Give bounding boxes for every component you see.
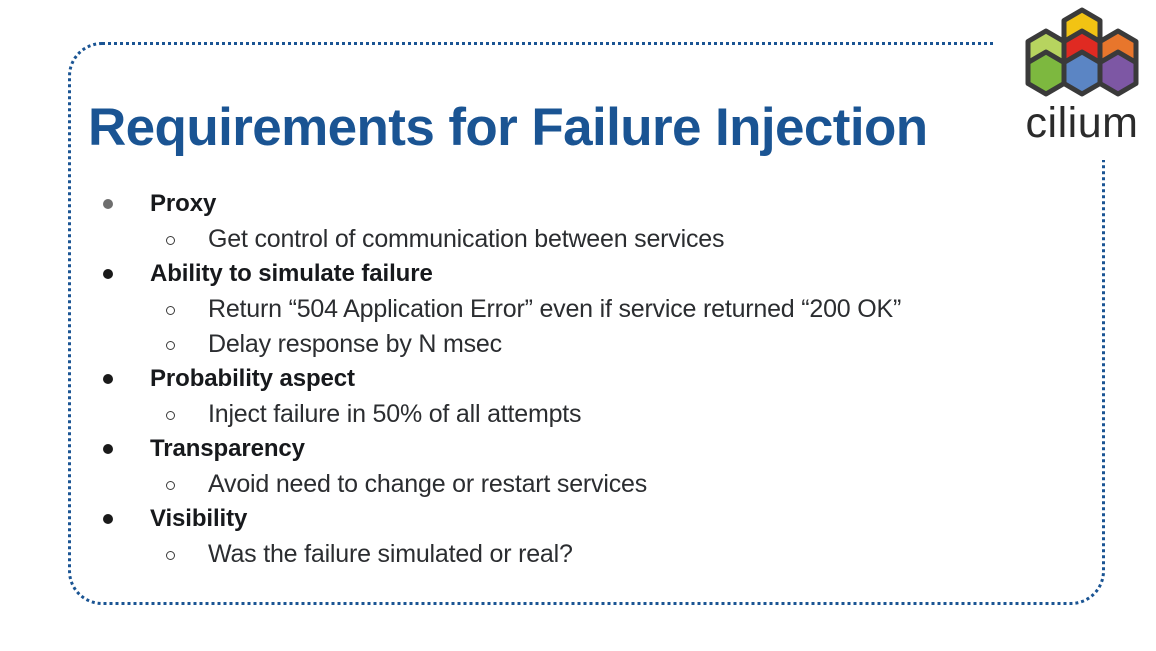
- list-item: Visibility: [96, 505, 1096, 540]
- bullet-marker-hollow: [166, 551, 175, 560]
- list-item: Get control of communication between ser…: [96, 225, 1096, 260]
- bullet-marker-hollow: [166, 341, 175, 350]
- list-item-label: Get control of communication between ser…: [208, 225, 724, 254]
- list-item: Transparency: [96, 435, 1096, 470]
- bullet-marker-filled: [103, 444, 113, 454]
- page-title: Requirements for Failure Injection: [88, 98, 928, 159]
- bullet-marker-filled: [103, 199, 113, 209]
- list-item: Probability aspect: [96, 365, 1096, 400]
- list-item-label: Transparency: [150, 435, 305, 463]
- list-item: Delay response by N msec: [96, 330, 1096, 365]
- cilium-logo: cilium: [1012, 6, 1152, 146]
- list-item-label: Avoid need to change or restart services: [208, 470, 647, 499]
- list-item-label: Delay response by N msec: [208, 330, 502, 359]
- bullet-marker-hollow: [166, 236, 175, 245]
- bullet-marker-filled: [103, 514, 113, 524]
- list-item-label: Visibility: [150, 505, 247, 533]
- hexagon-bottom: [1064, 52, 1100, 94]
- cilium-hexagon-cluster: [1012, 6, 1152, 106]
- list-item: Was the failure simulated or real?: [96, 540, 1096, 575]
- list-item-label: Ability to simulate failure: [150, 260, 433, 288]
- list-item: Avoid need to change or restart services: [96, 470, 1096, 505]
- list-item: Return “504 Application Error” even if s…: [96, 295, 1096, 330]
- bullet-list: Proxy Get control of communication betwe…: [96, 190, 1096, 575]
- list-item: Inject failure in 50% of all attempts: [96, 400, 1096, 435]
- list-item-label: Return “504 Application Error” even if s…: [208, 295, 901, 324]
- list-item-label: Inject failure in 50% of all attempts: [208, 400, 581, 429]
- list-item-label: Probability aspect: [150, 365, 355, 393]
- bullet-marker-hollow: [166, 306, 175, 315]
- list-item: Proxy: [96, 190, 1096, 225]
- list-item-label: Was the failure simulated or real?: [208, 540, 573, 569]
- cilium-wordmark: cilium: [1012, 102, 1152, 145]
- hexagon-lower-left: [1028, 52, 1064, 94]
- list-item: Ability to simulate failure: [96, 260, 1096, 295]
- bullet-marker-filled: [103, 269, 113, 279]
- bullet-marker-filled: [103, 374, 113, 384]
- bullet-marker-hollow: [166, 481, 175, 490]
- hexagon-lower-right: [1100, 52, 1136, 94]
- bullet-marker-hollow: [166, 411, 175, 420]
- list-item-label: Proxy: [150, 190, 216, 218]
